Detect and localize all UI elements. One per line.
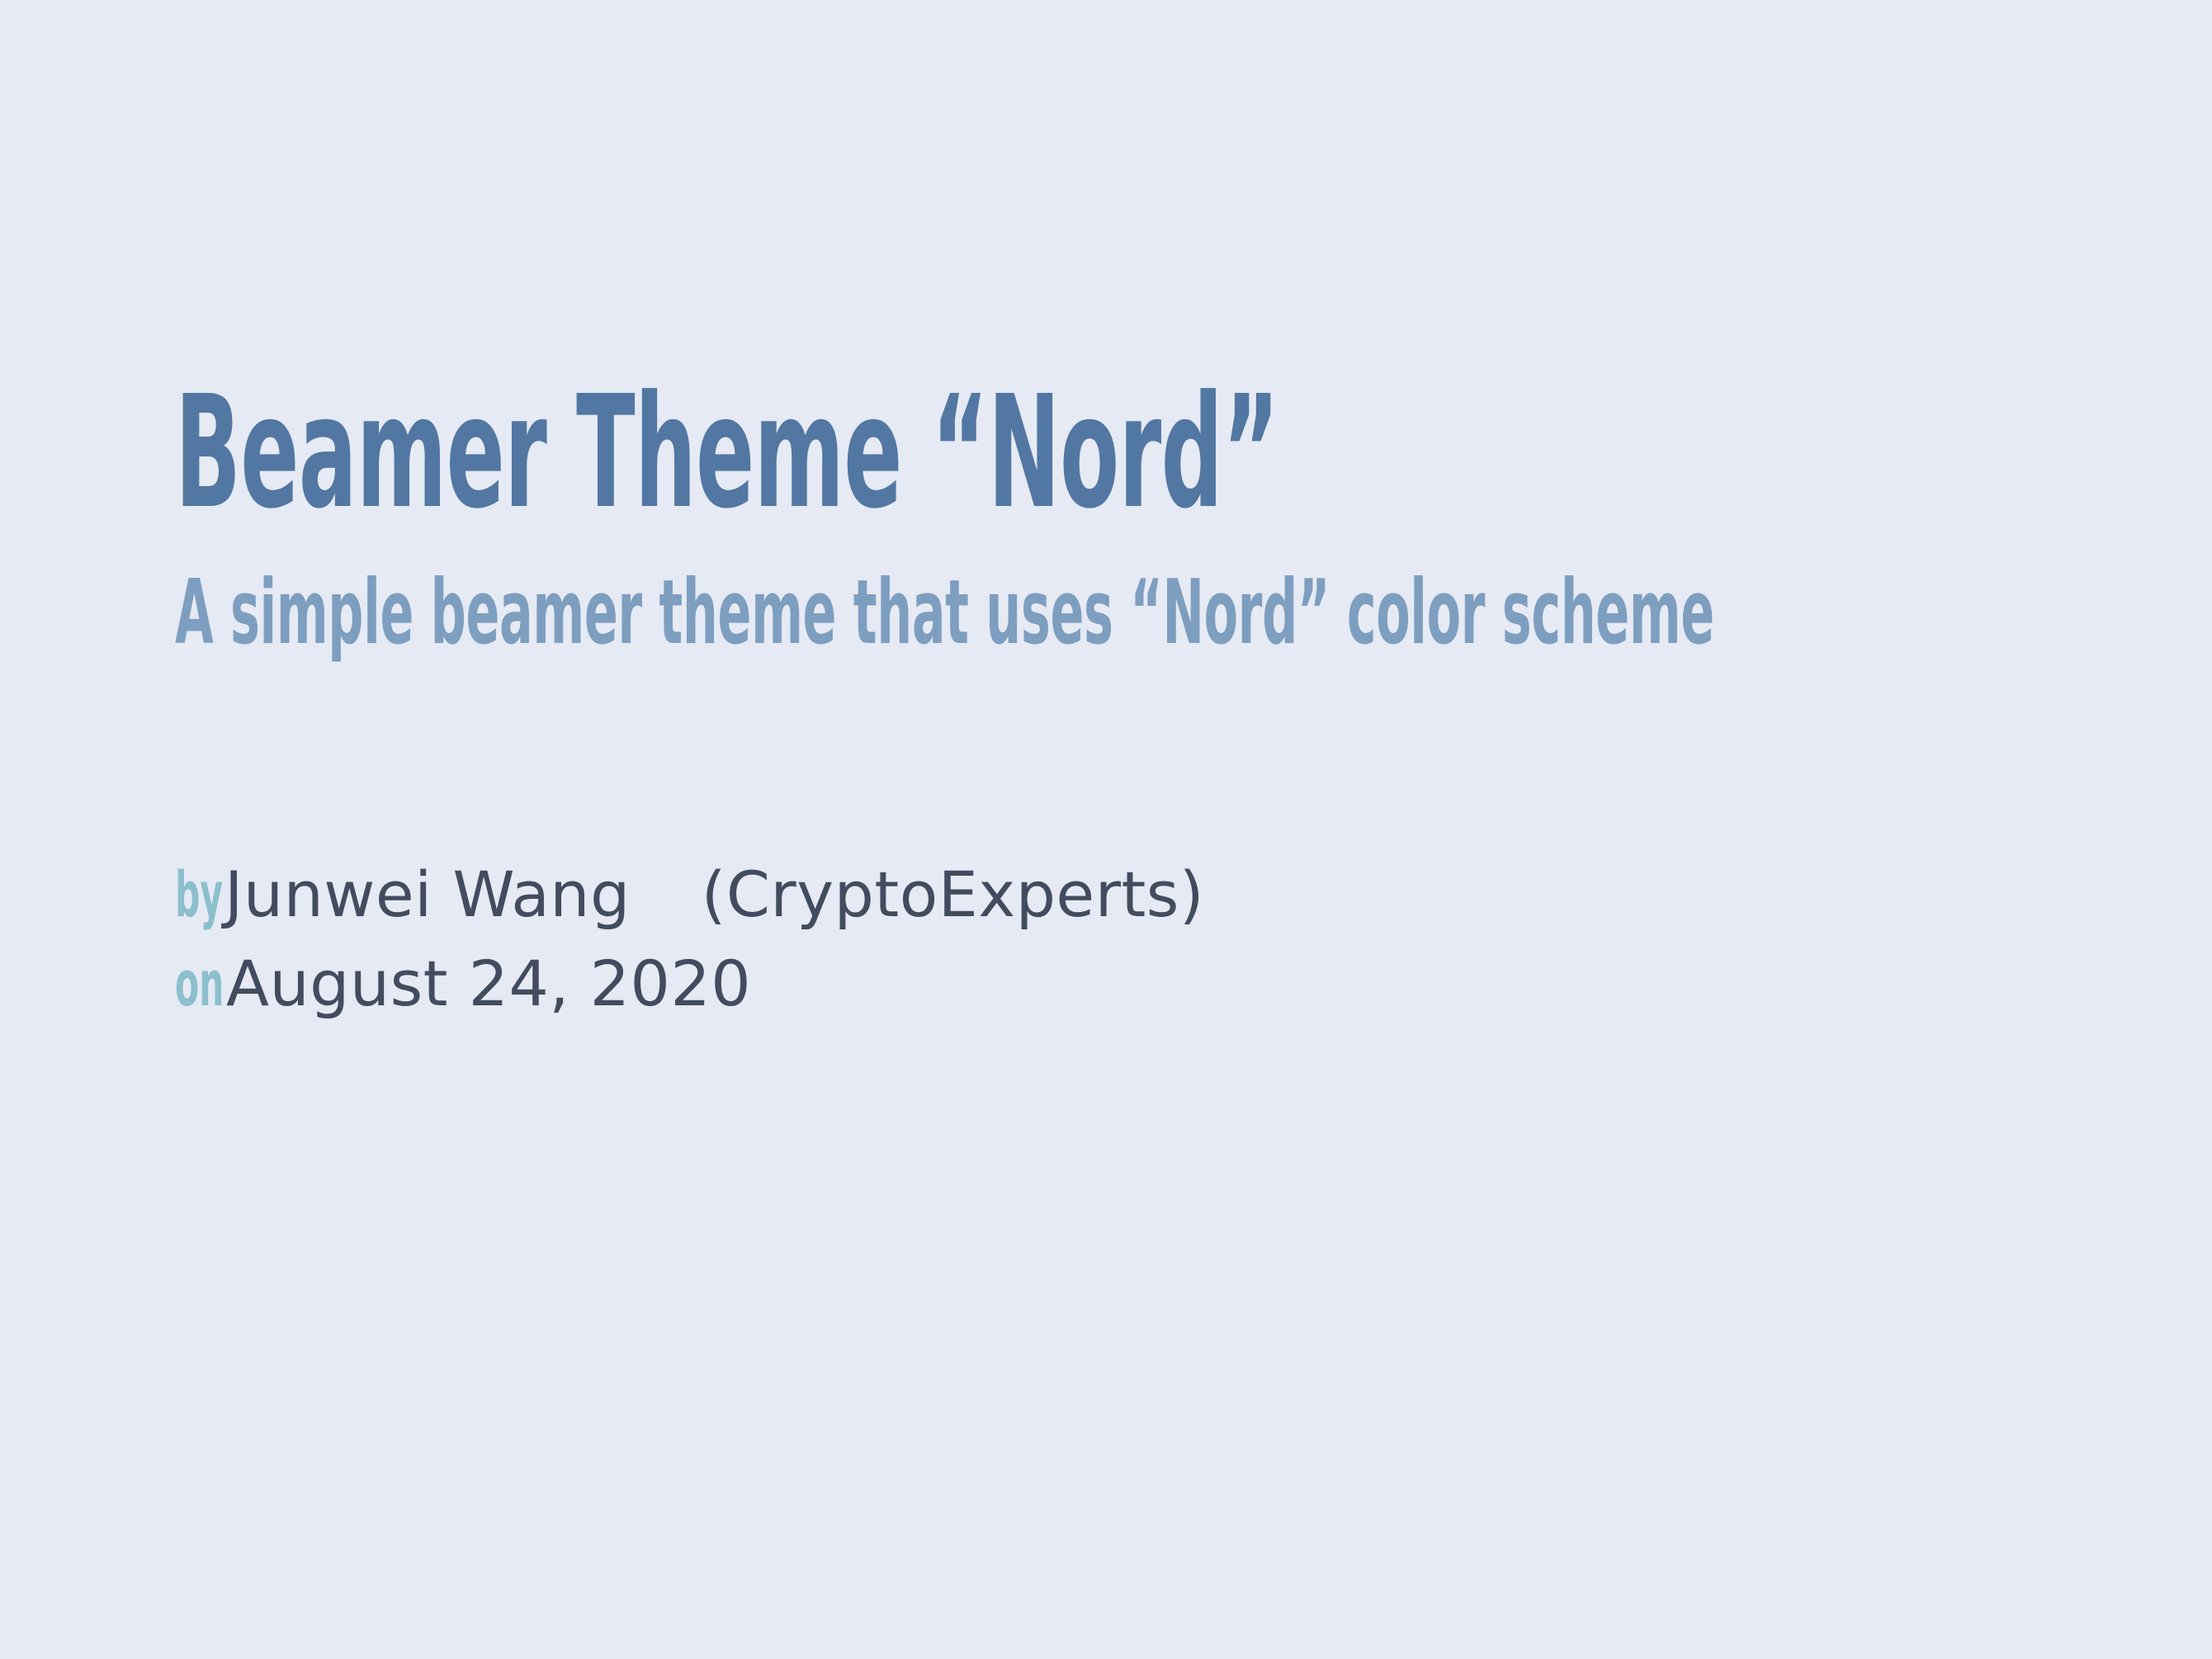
author-keyword: by bbox=[175, 850, 206, 939]
date-value: August 24, 2020 bbox=[226, 939, 751, 1028]
author-line: byJunwei Wang(CryptoExperts) bbox=[175, 850, 2073, 939]
date-line: onAugust 24, 2020 bbox=[175, 939, 2073, 1028]
title-block: Beamer Theme “Nord” A simple beamer them… bbox=[175, 376, 2073, 658]
page-subtitle: A simple beamer theme that uses “Nord” c… bbox=[175, 531, 1352, 658]
page-title: Beamer Theme “Nord” bbox=[175, 376, 1352, 531]
title-slide: Beamer Theme “Nord” A simple beamer them… bbox=[0, 0, 2212, 1659]
author-affiliation: (CryptoExperts) bbox=[702, 850, 1204, 939]
date-keyword: on bbox=[175, 939, 206, 1028]
author-name: Junwei Wang bbox=[225, 850, 631, 939]
credits-block: byJunwei Wang(CryptoExperts) onAugust 24… bbox=[175, 850, 2073, 1028]
